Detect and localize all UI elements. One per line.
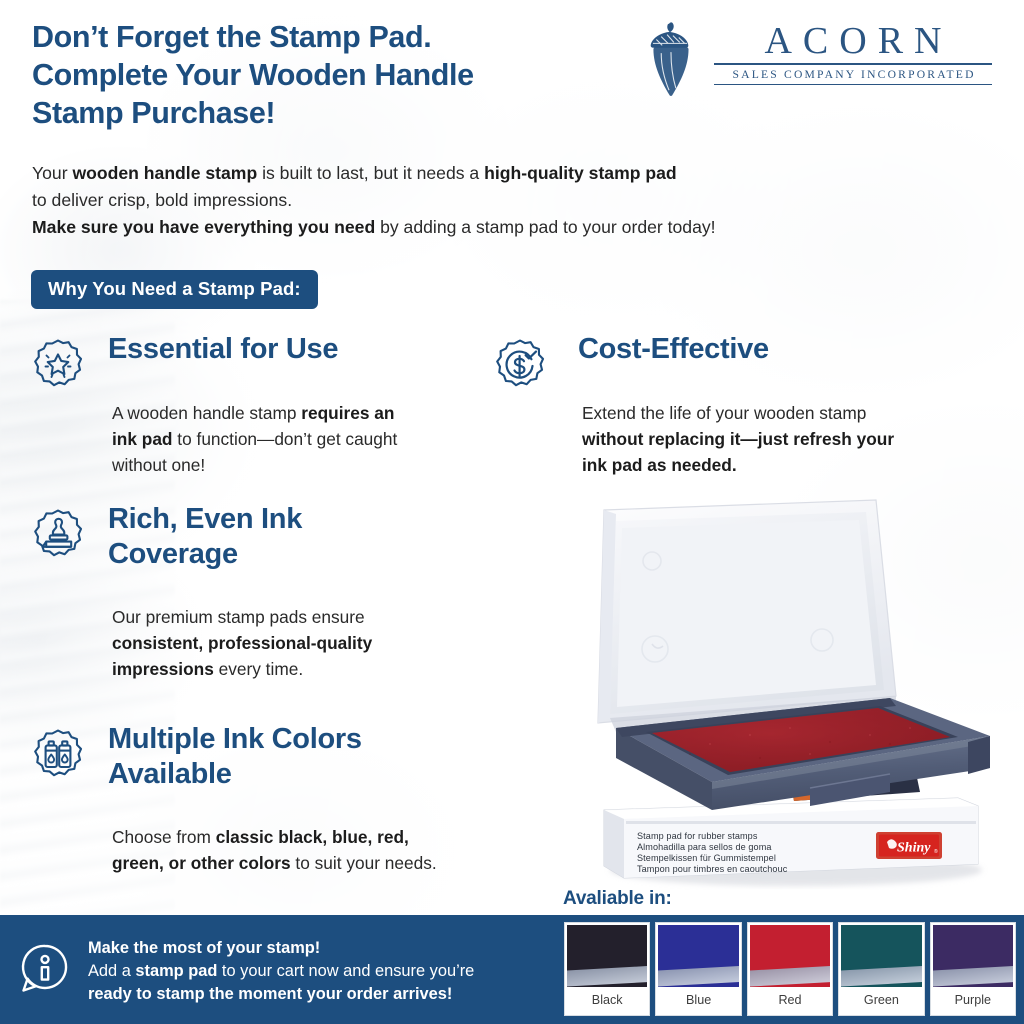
feature-title: Essential for Use xyxy=(108,332,338,367)
logo-rule-top xyxy=(714,63,992,65)
intro-strong: wooden handle stamp xyxy=(72,163,257,183)
swatch-black[interactable]: Black xyxy=(565,923,649,1015)
product-photo-stamp-pad: Stamp pad for rubber stamps Almohadilla … xyxy=(560,492,1024,892)
cta-line-3: ready to stamp the moment your order arr… xyxy=(88,983,548,1006)
acorn-icon xyxy=(634,20,706,98)
feature-body: Extend the life of your wooden stamp wit… xyxy=(582,400,894,478)
swatch-green[interactable]: Green xyxy=(839,923,923,1015)
logo-tagline: SALES COMPANY INCORPORATED xyxy=(714,67,992,82)
cta-bar: Make the most of your stamp! Add a stamp… xyxy=(0,915,556,1024)
feature-title-line: Cost-Effective xyxy=(578,332,769,367)
intro-line-2: to deliver crisp, bold impressions. xyxy=(32,187,912,214)
intro-line-1: Your wooden handle stamp is built to las… xyxy=(32,160,912,187)
intro-paragraph: Your wooden handle stamp is built to las… xyxy=(32,160,912,241)
info-bubble-icon xyxy=(18,942,72,996)
headline-line-1: Don’t Forget the Stamp Pad. xyxy=(32,18,652,56)
available-in-label: Avaliable in: xyxy=(563,888,672,910)
feature-body-line: without replacing it—just refresh your xyxy=(582,426,894,452)
feature-body-line: impressions every time. xyxy=(112,656,372,682)
intro-text: Your xyxy=(32,163,72,183)
svg-text:Shiny: Shiny xyxy=(897,841,931,856)
box-line-1: Stamp pad for rubber stamps xyxy=(637,831,758,841)
swatch-color-chip xyxy=(750,925,830,987)
color-swatch-bar: Black Blue Red Green Purple xyxy=(556,915,1024,1024)
body-strong: requires an xyxy=(301,403,394,423)
intro-text: by adding a stamp pad to your order toda… xyxy=(375,217,715,237)
cta-line-2: Add a stamp pad to your cart now and ens… xyxy=(88,960,548,983)
feature-title: Multiple Ink Colors Available xyxy=(108,722,362,792)
feature-body: Our premium stamp pads ensure consistent… xyxy=(112,604,372,682)
feature-body-line: consistent, professional-quality xyxy=(112,630,372,656)
body-strong: impressions xyxy=(112,659,214,679)
logo-rule-bottom xyxy=(714,84,992,85)
swatch-label: Purple xyxy=(933,987,1013,1013)
body-text: to suit your needs. xyxy=(291,853,437,873)
brand-logo: ACORN SALES COMPANY INCORPORATED xyxy=(622,14,992,102)
swatch-label: Blue xyxy=(658,987,738,1013)
swatch-label: Green xyxy=(841,987,921,1013)
swatch-purple[interactable]: Purple xyxy=(931,923,1015,1015)
infographic-page: Don’t Forget the Stamp Pad. Complete You… xyxy=(0,0,1024,1024)
body-strong: without replacing it—just refresh your xyxy=(582,429,894,449)
body-strong: green, or other colors xyxy=(112,853,291,873)
swatch-color-chip xyxy=(841,925,921,987)
intro-strong: Make sure you have everything you need xyxy=(32,217,375,237)
body-text: A wooden handle stamp xyxy=(112,403,301,423)
cta-strong: ready to stamp the moment your order arr… xyxy=(88,985,452,1003)
body-strong: ink pad xyxy=(112,429,173,449)
feature-body-line: ink pad to function—don’t get caught xyxy=(112,426,397,452)
page-headline: Don’t Forget the Stamp Pad. Complete You… xyxy=(32,18,652,132)
cta-text: Make the most of your stamp! Add a stamp… xyxy=(88,937,548,1006)
intro-strong: high-quality stamp pad xyxy=(484,163,677,183)
swatch-blue[interactable]: Blue xyxy=(656,923,740,1015)
box-line-3: Stempelkissen für Gummistempel xyxy=(637,853,776,863)
feature-title: Rich, Even Ink Coverage xyxy=(108,502,302,572)
logo-wordmark: ACORN SALES COMPANY INCORPORATED xyxy=(714,20,992,85)
svg-text:®: ® xyxy=(934,848,938,855)
cta-strong: stamp pad xyxy=(135,962,217,980)
feature-body-line: green, or other colors to suit your need… xyxy=(112,850,437,876)
box-line-4: Tampon pour timbres en caoutchouc xyxy=(637,864,788,874)
feature-title-line: Rich, Even Ink xyxy=(108,502,302,537)
feature-title-line: Essential for Use xyxy=(108,332,338,367)
body-text: to function—don’t get caught xyxy=(173,429,398,449)
body-strong: ink pad as needed. xyxy=(582,455,737,475)
headline-line-3: Stamp Purchase! xyxy=(32,94,652,132)
shiny-brand-logo: Shiny ® xyxy=(876,832,942,859)
feature-body: Choose from classic black, blue, red, gr… xyxy=(112,824,437,876)
intro-text: is built to last, but it needs a xyxy=(257,163,484,183)
body-text: every time. xyxy=(214,659,303,679)
swatch-label: Red xyxy=(750,987,830,1013)
header: Don’t Forget the Stamp Pad. Complete You… xyxy=(32,12,992,152)
feature-body-line: A wooden handle stamp requires an xyxy=(112,400,397,426)
body-strong: classic black, blue, red, xyxy=(216,827,409,847)
swatch-label: Black xyxy=(567,987,647,1013)
intro-line-3: Make sure you have everything you need b… xyxy=(32,214,912,241)
box-line-2: Almohadilla para sellos de goma xyxy=(637,842,772,852)
cta-line-1: Make the most of your stamp! xyxy=(88,937,548,960)
body-strong: consistent, professional-quality xyxy=(112,633,372,653)
feature-title-line: Coverage xyxy=(108,537,302,572)
feature-body: A wooden handle stamp requires an ink pa… xyxy=(112,400,397,478)
logo-name: ACORN xyxy=(714,20,992,62)
headline-line-2: Complete Your Wooden Handle xyxy=(32,56,652,94)
badge-dollar-check-icon xyxy=(492,338,548,394)
body-text: Choose from xyxy=(112,827,216,847)
feature-title-line: Available xyxy=(108,757,362,792)
swatch-red[interactable]: Red xyxy=(748,923,832,1015)
swatch-color-chip xyxy=(567,925,647,987)
feature-body-line: without one! xyxy=(112,452,397,478)
feature-body-line: Choose from classic black, blue, red, xyxy=(112,824,437,850)
badge-stamp-icon xyxy=(30,508,86,564)
swatch-color-chip xyxy=(658,925,738,987)
section-badge: Why You Need a Stamp Pad: xyxy=(31,270,318,309)
feature-body-line: Extend the life of your wooden stamp xyxy=(582,400,894,426)
feature-title: Cost-Effective xyxy=(578,332,769,367)
badge-star-icon xyxy=(30,338,86,394)
feature-body-line: Our premium stamp pads ensure xyxy=(112,604,372,630)
cta-text-run: Add a xyxy=(88,962,135,980)
badge-ink-bottles-icon xyxy=(30,728,86,784)
feature-title-line: Multiple Ink Colors xyxy=(108,722,362,757)
feature-body-line: ink pad as needed. xyxy=(582,452,894,478)
cta-text-run: to your cart now and ensure you’re xyxy=(217,962,474,980)
swatch-color-chip xyxy=(933,925,1013,987)
